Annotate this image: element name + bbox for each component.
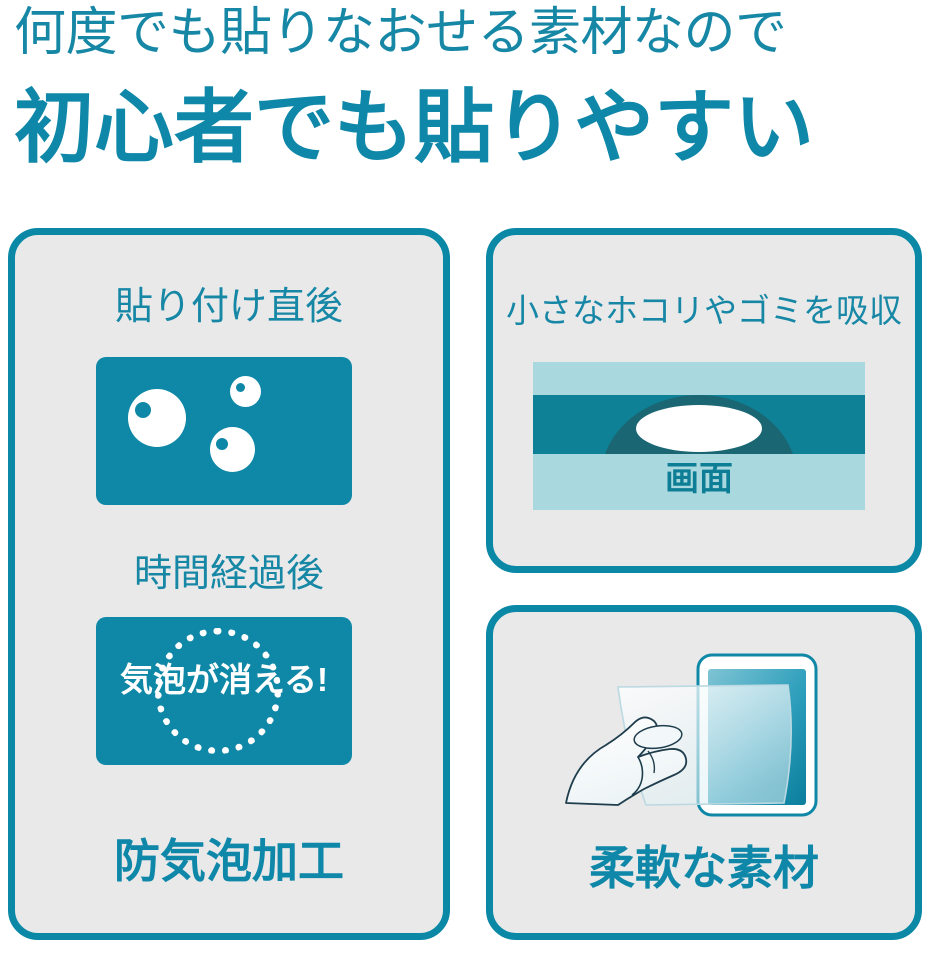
- headline-line-1: 何度でも貼りなおせる素材なので: [14, 2, 919, 64]
- bubble-highlight-dot: [135, 402, 151, 418]
- bubble-highlight-dot: [216, 438, 228, 450]
- film-top-layer: [533, 362, 865, 395]
- large-bubble: [128, 389, 186, 447]
- hand-applying-film-illustration: [560, 645, 860, 825]
- caption-after-apply: 貼り付け直後: [8, 284, 450, 330]
- dust-cross-section-diagram: 画面: [533, 362, 865, 510]
- bubble-fade-text: 気泡が消える!: [96, 660, 352, 700]
- medium-bubble: [210, 427, 255, 472]
- panel-title-anti-bubble: 防気泡加工: [8, 833, 450, 889]
- headline-line-2: 初心者でも貼りやすい: [14, 80, 919, 176]
- small-bubble: [230, 376, 261, 407]
- bubble-highlight-dot: [236, 383, 245, 392]
- dust-particle-icon: [636, 405, 762, 452]
- screen-label: 画面: [533, 458, 865, 500]
- caption-dust-absorption: 小さなホコリやゴミを吸収: [486, 288, 922, 334]
- promo-graphic: 何度でも貼りなおせる素材なので 初心者でも貼りやすい 貼り付け直後 時間経過後 …: [0, 0, 929, 953]
- bubble-illustration-box: [96, 357, 352, 505]
- panel-title-flexible-material: 柔軟な素材: [486, 840, 922, 896]
- caption-after-time: 時間経過後: [8, 551, 450, 597]
